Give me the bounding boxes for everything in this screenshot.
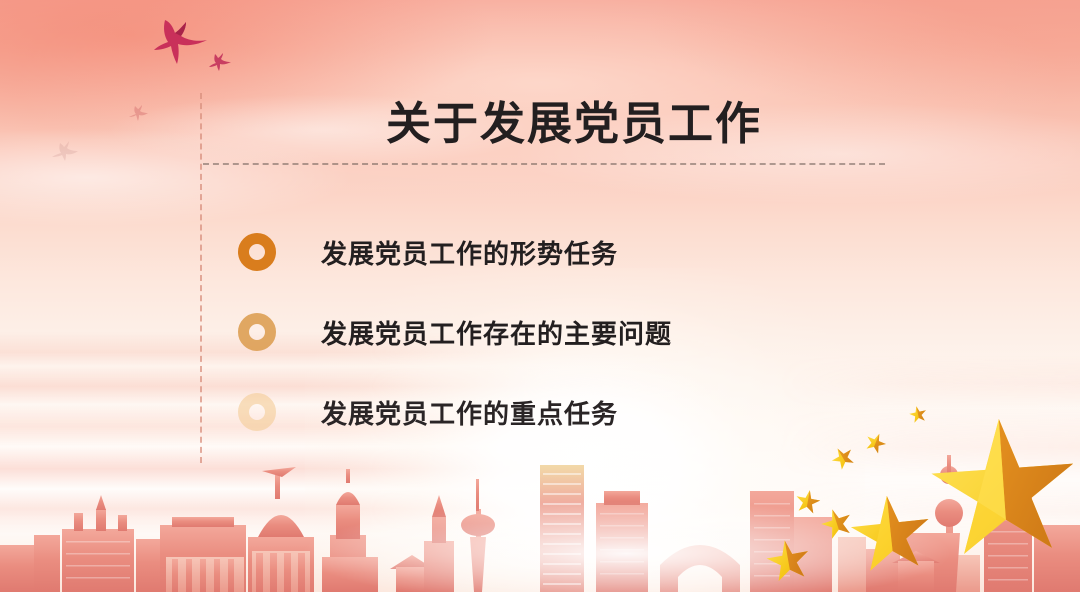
gold-stars-decoration xyxy=(760,402,1080,592)
page-title: 关于发展党员工作 xyxy=(386,99,762,149)
dove-faint-lower-icon xyxy=(48,140,80,162)
agenda-item-2[interactable]: 发展党员工作存在的主要问题 xyxy=(238,292,858,372)
dashed-horizontal-rule xyxy=(203,163,885,165)
star-medium-gold xyxy=(848,492,933,572)
slide-canvas: 关于发展党员工作 发展党员工作的形势任务 发展党员工作存在的主要问题 发展党员工… xyxy=(0,0,1080,592)
star-trail xyxy=(794,404,928,540)
dove-large-icon xyxy=(139,14,213,68)
dove-small-right-icon xyxy=(205,52,233,72)
agenda-item-1-label: 发展党员工作的形势任务 xyxy=(321,234,618,271)
star-large-gold xyxy=(928,414,1079,556)
star-small-gold xyxy=(764,537,812,583)
ring-bullet-icon xyxy=(238,233,276,271)
agenda-item-2-label: 发展党员工作存在的主要问题 xyxy=(321,314,672,351)
ring-bullet-icon xyxy=(238,313,276,351)
agenda-item-1[interactable]: 发展党员工作的形势任务 xyxy=(238,212,858,292)
dove-mid-left-icon xyxy=(126,104,150,122)
dashed-vertical-rule xyxy=(200,93,202,463)
